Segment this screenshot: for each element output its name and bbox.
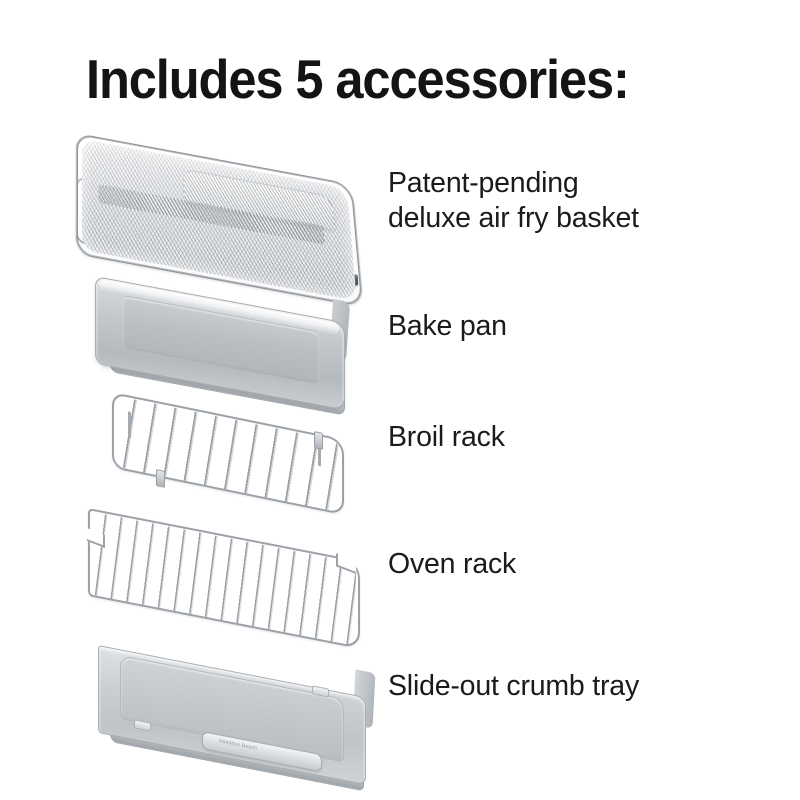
label-oven-rack: Oven rack: [388, 547, 516, 582]
oven-rack-body: [88, 508, 360, 649]
label-crumb-tray: Slide-out crumb tray: [388, 669, 639, 704]
broil-rack-frame: [112, 392, 344, 515]
page-title: Includes 5 accessories:: [86, 47, 629, 111]
label-broil-rack: Broil rack: [388, 420, 505, 455]
broil-rack-hook-left: [128, 411, 131, 438]
label-bake-pan: Bake pan: [388, 309, 507, 344]
oven-rack-frame: [88, 508, 360, 649]
broil-rack-foot-back: [314, 431, 323, 450]
crumb-tray-photo: Hamilton Beach: [98, 645, 393, 780]
oven-rack-photo: [88, 508, 378, 620]
bake-pan-photo: [95, 276, 360, 388]
label-air-fry-basket: Patent-pending deluxe air fry basket: [388, 166, 639, 236]
air-fry-basket-photo: [70, 133, 370, 278]
accessories-infographic: Includes 5 accessories: Patent-pending d…: [0, 0, 800, 800]
crumb-tray-brand-text: Hamilton Beach: [219, 738, 257, 751]
broil-rack-body: [112, 392, 344, 515]
broil-rack-photo: [112, 392, 362, 492]
broil-rack-foot-front: [156, 469, 165, 488]
